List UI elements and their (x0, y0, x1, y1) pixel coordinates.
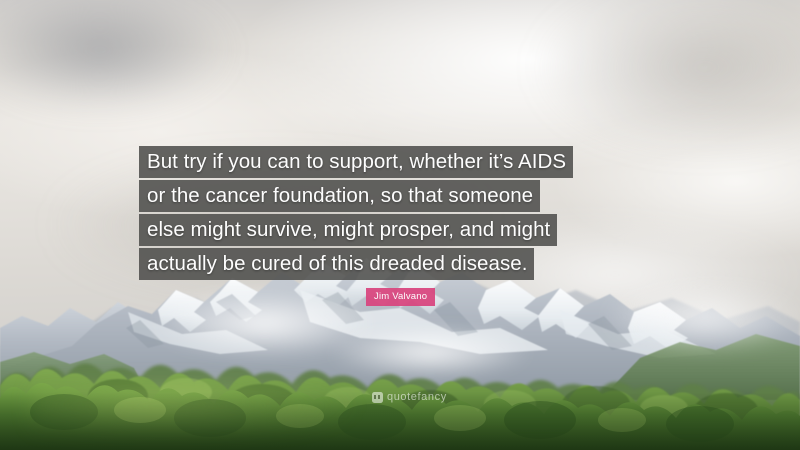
sky-haze-left (0, 0, 230, 110)
quote-line-1: But try if you can to support, whether i… (139, 146, 573, 178)
quote-text-block: But try if you can to support, whether i… (139, 146, 671, 280)
quotefancy-logo-icon (372, 392, 383, 403)
author-attribution-badge[interactable]: Jim Valvano (366, 288, 435, 306)
quote-line-2: or the cancer foundation, so that someon… (139, 180, 540, 212)
quote-line-3: else might survive, might prosper, and m… (139, 214, 557, 246)
watermark-brand-label: quotefancy (387, 391, 447, 403)
quote-line-4: actually be cured of this dreaded diseas… (139, 248, 534, 280)
sky-haze-right (540, 0, 800, 150)
quote-image-canvas: But try if you can to support, whether i… (0, 0, 800, 450)
watermark: quotefancy (372, 391, 447, 403)
